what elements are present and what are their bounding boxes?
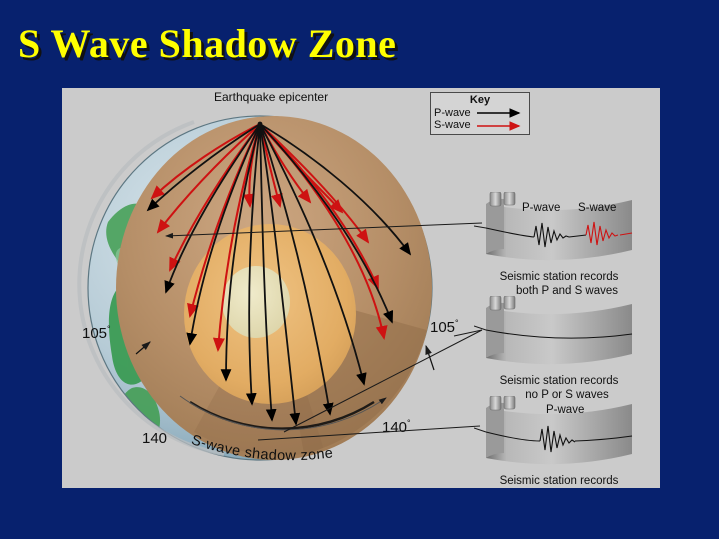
caption-line-1: Seismic station records	[500, 375, 619, 387]
caption-line-1: Seismic station records	[500, 475, 619, 487]
caption: Seismic station records both P and S wav…	[474, 271, 644, 298]
p-wave-arrow-icon	[477, 107, 527, 119]
p-wave-label: P-wave	[522, 202, 560, 214]
angle-value: 105	[430, 319, 455, 336]
key-item-p-wave: P-wave	[434, 107, 471, 119]
angle-label-right-105: 105°	[430, 318, 459, 336]
shadow-zone-caption: S-wave shadow zone	[182, 424, 422, 484]
angle-value: 105	[82, 325, 107, 342]
s-wave-arrow-icon	[477, 120, 527, 132]
seismic-station-record-none: Seismic station records no P or S waves	[474, 296, 644, 402]
key-legend-box: Key P-wave S-wave	[430, 92, 530, 135]
svg-text:S-wave shadow zone: S-wave shadow zone	[189, 432, 334, 464]
angle-label-left-140: 140	[142, 430, 167, 447]
angle-label-left-105: 105°	[82, 324, 111, 342]
shadow-zone-text: S-wave shadow zone	[189, 432, 334, 464]
epicenter-label: Earthquake epicenter	[214, 90, 328, 104]
s-wave-label: S-wave	[578, 202, 616, 214]
epicenter-marker	[258, 122, 263, 127]
degree-symbol: °	[107, 324, 111, 334]
page-title: S Wave Shadow Zone	[18, 20, 396, 67]
seismic-station-record-p-only: P-wave Seismic station records P waves o…	[474, 396, 644, 488]
key-item-s-wave: S-wave	[434, 119, 471, 131]
caption: Seismic station records P waves only	[474, 475, 644, 488]
presentation-slide: S Wave Shadow Zone	[0, 0, 719, 539]
p-wave-label: P-wave	[546, 404, 584, 416]
seismic-station-record-both: P-wave S-wave Seismic station records bo…	[474, 192, 644, 298]
caption-line-1: Seismic station records	[500, 271, 619, 283]
key-title: Key	[431, 94, 529, 106]
figure-panel: Earthquake epicenter 105° 105° 140 140° …	[62, 88, 660, 488]
drum-icon	[474, 296, 644, 374]
degree-symbol: °	[455, 318, 459, 328]
